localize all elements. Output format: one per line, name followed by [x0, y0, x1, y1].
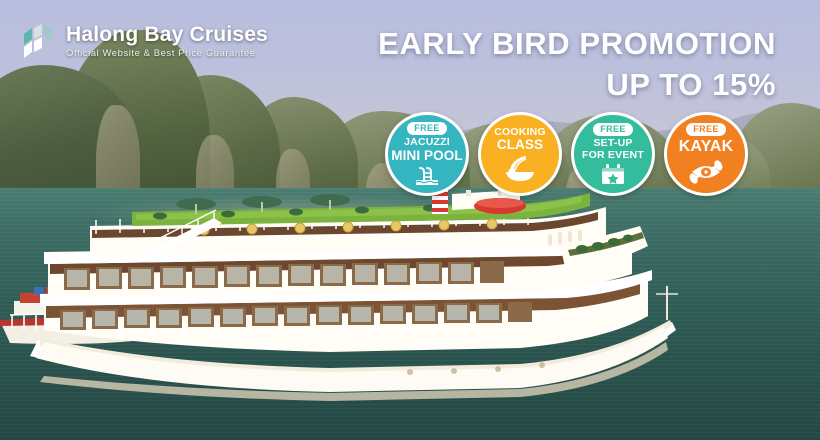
pool-ladder-icon — [414, 166, 440, 186]
badge-setup-for-event[interactable]: FREE SET-UP FOR EVENT — [571, 112, 655, 196]
promotional-banner: Halong Bay Cruises Official Website & Be… — [0, 0, 820, 440]
free-pill: FREE — [407, 122, 447, 135]
brand-name: Halong Bay Cruises — [66, 24, 268, 45]
chevron-blocks-logo-icon — [22, 24, 58, 58]
perk-badge-row: FREE JACUZZI MINI POOL COOKING CLASS — [385, 112, 748, 196]
headline-line-2: UP TO 15% — [378, 65, 776, 106]
badge-title-line-2: MINI POOL — [391, 149, 462, 164]
badge-title-line-2: FOR EVENT — [582, 150, 644, 161]
badge-jacuzzi-mini-pool[interactable]: FREE JACUZZI MINI POOL — [385, 112, 469, 196]
badge-kayak[interactable]: FREE KAYAK — [664, 112, 748, 196]
badge-cooking-class[interactable]: COOKING CLASS — [478, 112, 562, 196]
brand-logo[interactable]: Halong Bay Cruises Official Website & Be… — [22, 24, 268, 59]
badge-title-line-1: JACUZZI — [404, 137, 450, 148]
whisk-bowl-icon — [503, 155, 537, 181]
badge-title-line-1: KAYAK — [679, 138, 733, 155]
promo-headline: EARLY BIRD PROMOTION UP TO 15% — [378, 24, 776, 106]
cruise-ship — [0, 190, 700, 405]
free-pill: FREE — [593, 123, 633, 136]
headline-line-1: EARLY BIRD PROMOTION — [378, 24, 776, 65]
brand-tagline: Official Website & Best Price Guarantee — [66, 49, 268, 59]
calendar-star-icon — [601, 164, 625, 185]
badge-title-line-2: CLASS — [497, 138, 543, 153]
badge-title-line-1: SET-UP — [593, 138, 632, 149]
free-pill: FREE — [686, 123, 726, 136]
kayak-paddle-icon — [689, 159, 723, 185]
